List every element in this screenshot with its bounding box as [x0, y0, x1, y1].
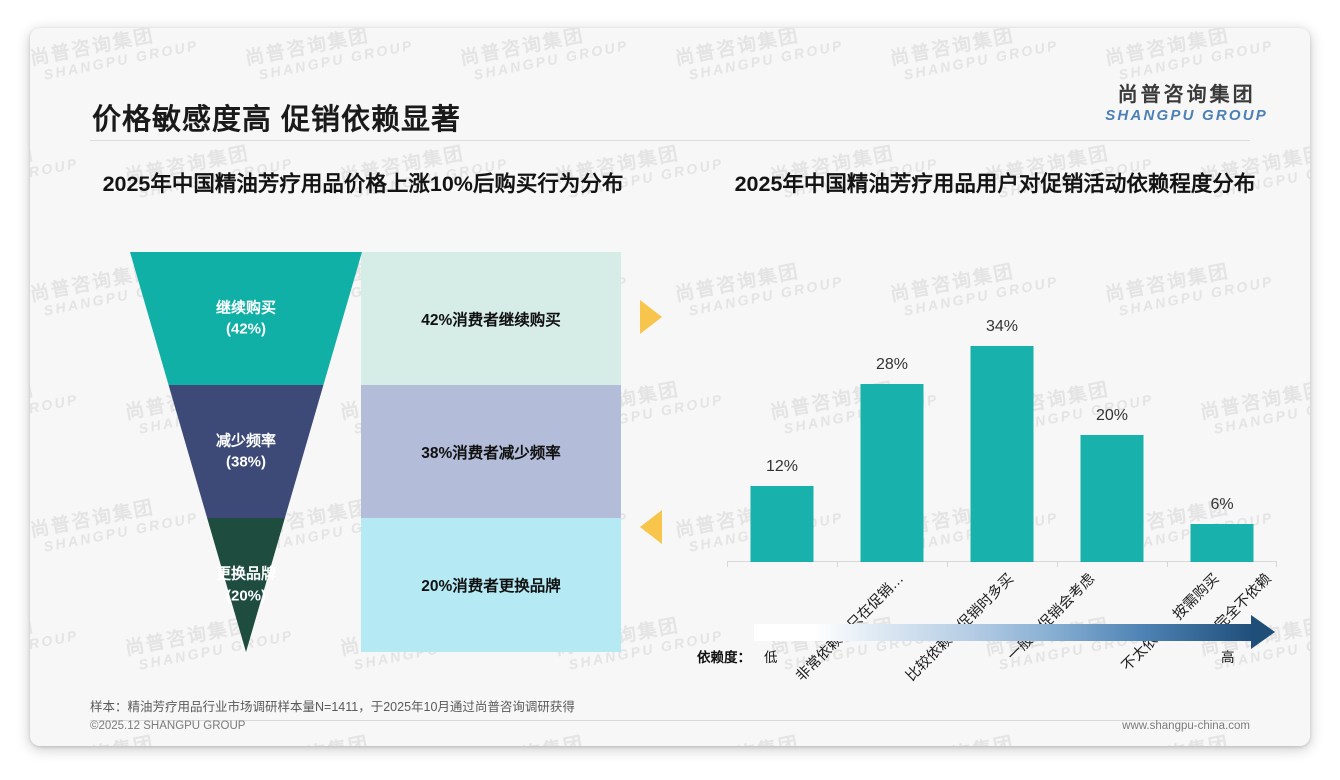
page-title: 价格敏感度高 促销依赖显著: [92, 96, 461, 138]
funnel-slice: 更换品牌(20%): [130, 518, 362, 652]
bar[interactable]: [861, 384, 924, 562]
funnel-callout-text: 42%消费者继续购买: [421, 308, 561, 330]
bar-slot: 20%: [1057, 266, 1167, 562]
funnel-segment[interactable]: 20%消费者更换品牌更换品牌(20%): [48, 518, 678, 652]
brand-name-en: SHANGPU GROUP: [1105, 108, 1268, 125]
gradient-arrow-icon: [1251, 615, 1275, 649]
left-chart-panel: 2025年中国精油芳疗用品价格上涨10%后购买行为分布 42%消费者继续购买继续…: [48, 156, 678, 676]
gradient-bar: [754, 624, 1254, 641]
funnel-slice: 继续购买(42%): [130, 252, 362, 385]
right-chart-title: 2025年中国精油芳疗用品用户对促销活动依赖程度分布: [685, 156, 1305, 199]
sample-note: 样本：精油芳疗用品行业市场调研样本量N=1411，于2025年10月通过尚普咨询…: [90, 696, 575, 715]
bar-slot: 28%: [837, 266, 947, 562]
legend-low-label: 低: [764, 646, 778, 666]
dependency-bar-chart: 12%28%34%20%6% 非常依赖，只在促销…比较依赖，促销时多买一般，促销…: [707, 256, 1287, 576]
footer-copyright: ©2025.12 SHANGPU GROUP: [90, 720, 245, 732]
header-divider: [90, 140, 1250, 141]
legend-high-label: 高: [1221, 646, 1235, 666]
funnel-segment[interactable]: 38%消费者减少频率减少频率(38%): [48, 385, 678, 518]
bar-value-label: 34%: [986, 318, 1018, 336]
brand-name-cn: 尚普咨询集团: [1105, 84, 1268, 106]
marker-triangle-left-icon: [640, 510, 662, 544]
funnel-segment[interactable]: 42%消费者继续购买继续购买(42%): [48, 252, 678, 385]
funnel-callout-text: 38%消费者减少频率: [421, 441, 561, 463]
funnel-slice-label: 更换品牌(20%): [130, 563, 362, 607]
bar-value-label: 20%: [1096, 407, 1128, 425]
right-chart-panel: 2025年中国精油芳疗用品用户对促销活动依赖程度分布 12%28%34%20%6…: [685, 156, 1305, 676]
funnel-callout-text: 20%消费者更换品牌: [421, 574, 561, 596]
funnel-slice-name: 减少频率: [130, 430, 362, 452]
slide-canvas: 尚普咨询集团SHANGPU GROUP尚普咨询集团SHANGPU GROUP尚普…: [30, 28, 1310, 746]
funnel-callout: 20%消费者更换品牌: [361, 518, 621, 652]
funnel-slice-label: 继续购买(42%): [130, 297, 362, 341]
bar-slot: 12%: [727, 266, 837, 562]
bar-slot: 34%: [947, 266, 1057, 562]
bar-value-label: 12%: [766, 458, 798, 476]
footer-website[interactable]: www.shangpu-china.com: [1122, 720, 1250, 732]
funnel-slice-name: 继续购买: [130, 297, 362, 319]
bar[interactable]: [1081, 435, 1144, 562]
funnel-slice-name: 更换品牌: [130, 563, 362, 585]
funnel-slice-value: (20%): [130, 585, 362, 607]
funnel-chart: 42%消费者继续购买继续购买(42%)38%消费者减少频率减少频率(38%)20…: [48, 252, 678, 652]
bar-plot-area: 12%28%34%20%6%: [727, 266, 1277, 562]
funnel-slice: 减少频率(38%): [130, 385, 362, 518]
slide-footer: ©2025.12 SHANGPU GROUP www.shangpu-china…: [30, 720, 1310, 746]
funnel-slice-label: 减少频率(38%): [130, 430, 362, 474]
bar[interactable]: [1191, 524, 1254, 562]
brand-logo: 尚普咨询集团 SHANGPU GROUP: [1105, 84, 1268, 125]
marker-triangle-right-icon: [640, 300, 662, 334]
legend-title: 依赖度：: [697, 646, 751, 666]
left-chart-title: 2025年中国精油芳疗用品价格上涨10%后购买行为分布: [48, 156, 678, 199]
bar[interactable]: [971, 346, 1034, 562]
funnel-callout: 38%消费者减少频率: [361, 385, 621, 518]
funnel-slice-value: (42%): [130, 319, 362, 341]
funnel-slice-value: (38%): [130, 452, 362, 474]
dependency-gradient-legend: 依赖度： 低 高: [697, 618, 1297, 672]
bar[interactable]: [751, 486, 814, 562]
bar-value-label: 28%: [876, 356, 908, 374]
bar-slot: 6%: [1167, 266, 1277, 562]
bar-value-label: 6%: [1210, 496, 1233, 514]
funnel-callout: 42%消费者继续购买: [361, 252, 621, 385]
slide-header: 价格敏感度高 促销依赖显著 尚普咨询集团 SHANGPU GROUP: [30, 28, 1310, 120]
